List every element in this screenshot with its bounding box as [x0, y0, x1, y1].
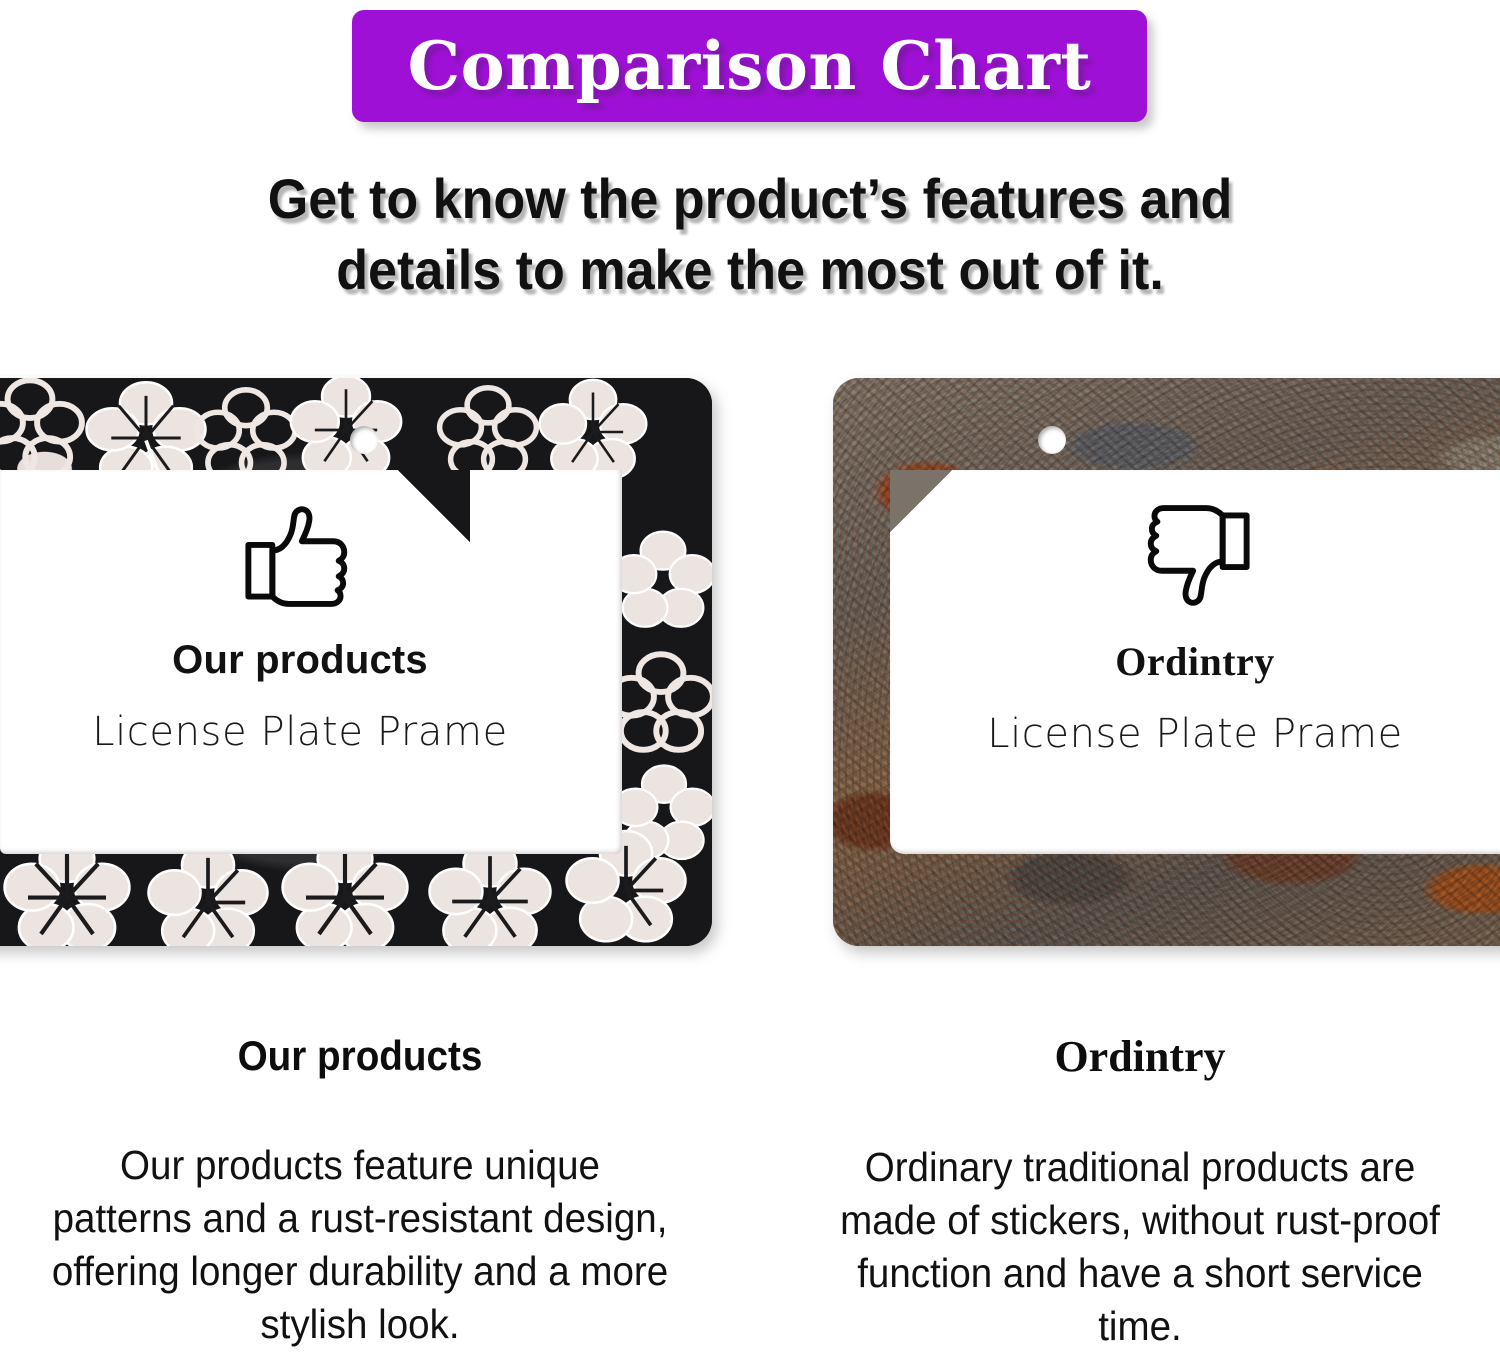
ordintry-plate-content: Ordintry License Plate Prame [890, 500, 1500, 757]
page-subtitle: Get to know the product’s features and d… [53, 163, 1448, 305]
ordintry-description-column: Ordintry Ordinary traditional products a… [800, 1035, 1480, 1353]
plate-product-name: Ordintry [890, 638, 1500, 685]
our-products-description-column: Our products Our products feature unique… [30, 1035, 690, 1351]
thumbs-up-icon [241, 500, 359, 612]
subtitle-line-2: details to make the most out of it. [53, 234, 1448, 305]
column-title: Ordintry [800, 1035, 1480, 1079]
plate-product-name: Our products [0, 638, 600, 683]
page-title: Comparison Chart [408, 33, 1092, 99]
mounting-hole [350, 426, 378, 454]
column-body-text: Ordinary traditional products are made o… [820, 1141, 1459, 1353]
comparison-chart-banner: Comparison Chart [352, 10, 1147, 122]
column-title: Our products [56, 1035, 663, 1077]
plate-product-subtitle: License Plate Prame [0, 709, 600, 755]
plate-product-subtitle: License Plate Prame [890, 711, 1500, 757]
our-products-plate-content: Our products License Plate Prame [0, 500, 600, 755]
thumbs-down-icon [1136, 500, 1254, 612]
column-body-text: Our products feature unique patterns and… [50, 1139, 670, 1351]
mounting-hole [1038, 426, 1066, 454]
subtitle-line-1: Get to know the product’s features and [53, 163, 1448, 234]
